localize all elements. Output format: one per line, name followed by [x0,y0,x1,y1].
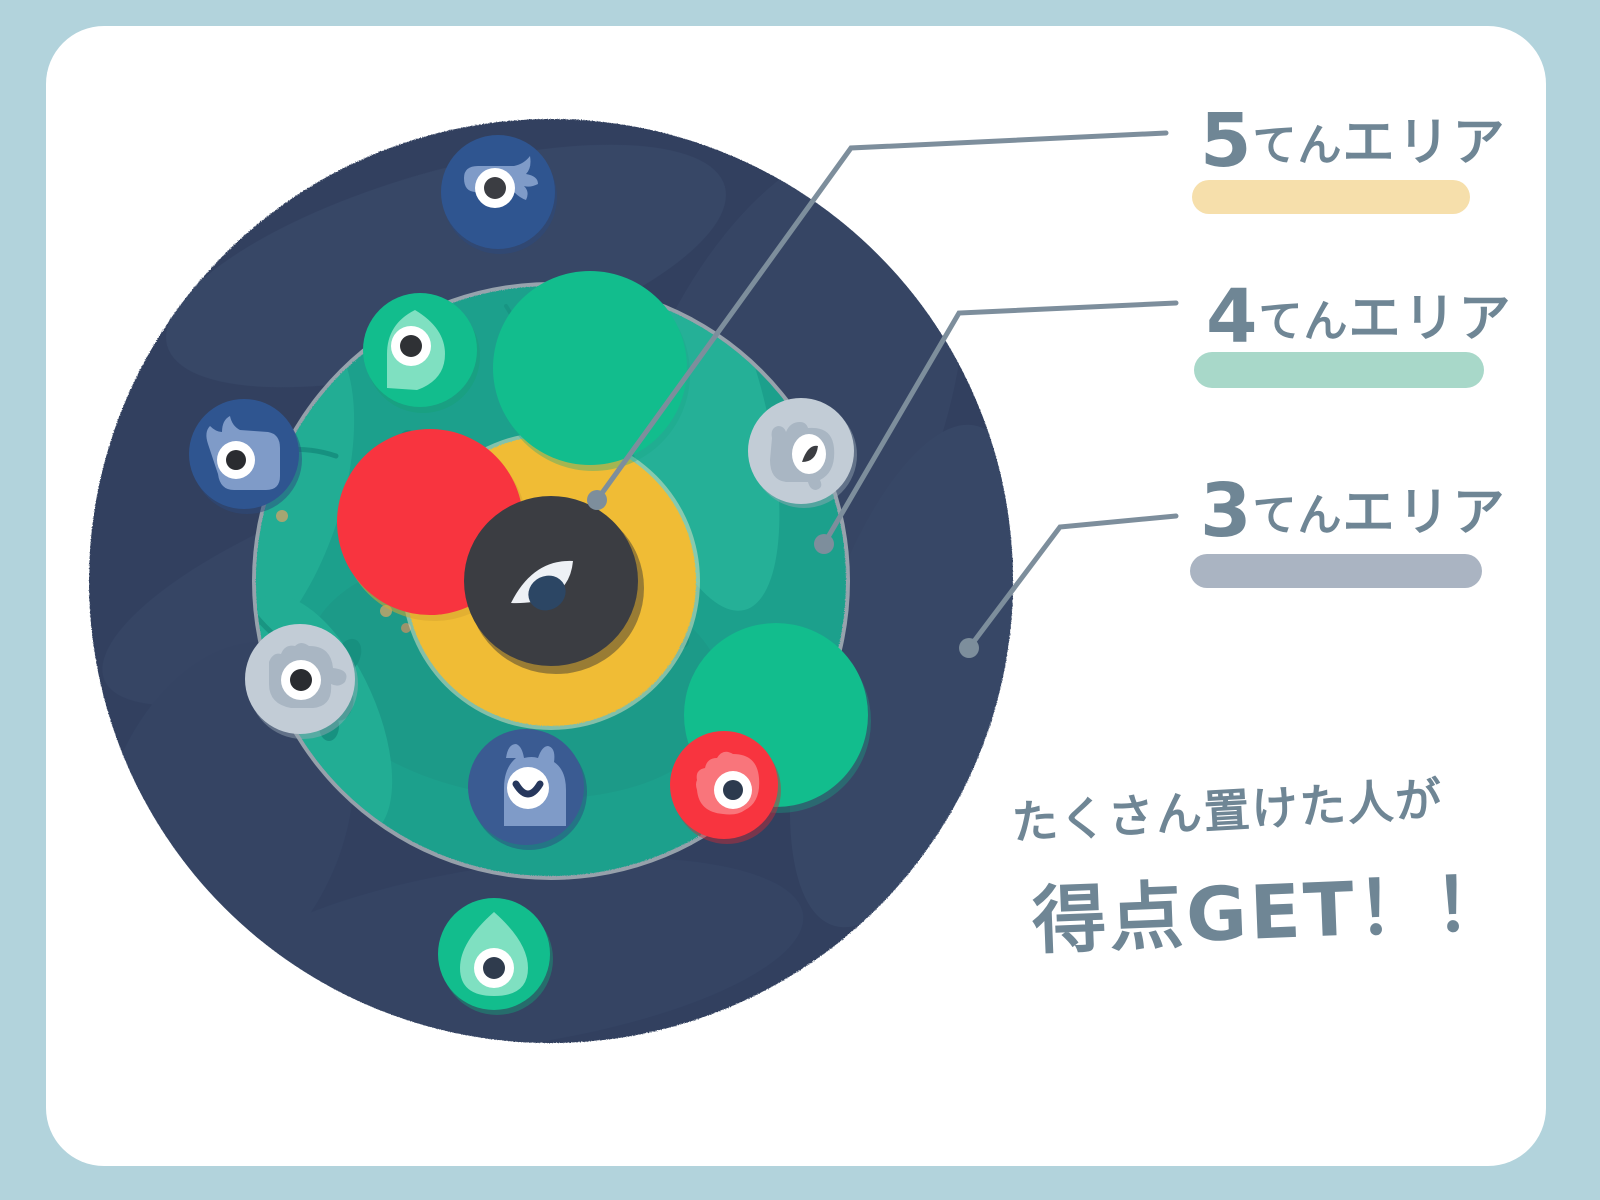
token-green-upper-left[interactable] [357,288,485,416]
legend-kata-5: エリア [1343,113,1508,173]
token-green-bottom[interactable] [430,890,560,1020]
legend-label-5: 5てんエリア [1200,104,1508,178]
legend-kana-3: てん [1253,490,1343,541]
legend-num-4: 4 [1206,274,1259,360]
legend-kana-5: てん [1253,120,1343,171]
legend-highlight-5 [1192,180,1470,214]
legend-num-5: 5 [1200,98,1253,184]
illustration-root: 5てんエリア 4てんエリア 3てんエリア たくさん置けた人が 得点GET！！ [0,0,1600,1200]
token-blue-left[interactable] [184,392,308,518]
legend-label-3: 3てんエリア [1200,474,1508,548]
token-blue-bottom[interactable] [462,722,594,854]
legend-num-3: 3 [1200,468,1253,554]
legend-highlight-3 [1190,554,1482,588]
legend-kana-4: てん [1259,296,1349,347]
note-line-2: 得点GET！！ [1030,844,1513,969]
legend-item-3: 3てんエリア [1200,474,1508,548]
legend-kata-4: エリア [1349,289,1514,349]
legend-label-4: 4てんエリア [1206,280,1514,354]
legend-item-4: 4てんエリア [1206,280,1514,354]
token-gray-lower-left[interactable] [239,618,365,744]
token-gray-right[interactable] [742,392,862,512]
token-red-bottom[interactable] [665,726,787,848]
legend-item-5: 5てんエリア [1200,104,1508,178]
legend-kata-3: エリア [1343,483,1508,543]
token-blue-top[interactable] [434,130,564,258]
